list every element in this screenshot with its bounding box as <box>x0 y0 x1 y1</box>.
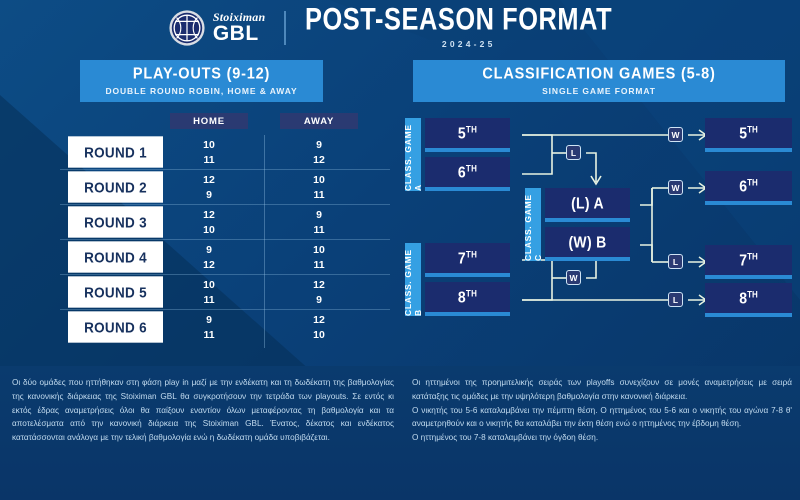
playouts-rows: ROUND 11011912ROUND 21291011ROUND 312109… <box>60 135 390 345</box>
cell-away-row-5: 129 <box>280 277 358 308</box>
game-c-top-label: (L) A <box>571 194 604 212</box>
game-c-bottom-label: (W) B <box>568 233 606 251</box>
marker-loser-game-a: L <box>566 145 581 160</box>
seed-value: 10 <box>313 173 325 187</box>
seed-value: 11 <box>203 153 214 167</box>
seed-value: 11 <box>313 258 324 272</box>
marker-winner-game-a: W <box>668 127 683 142</box>
poster-root: Stoiximan GBL POST-SEASON FORMAT 2024-25… <box>0 0 800 500</box>
classification-panel-header: CLASSIFICATION GAMES (5-8) SINGLE GAME F… <box>413 60 785 102</box>
seed-value: 12 <box>203 258 215 272</box>
season-label: 2024-25 <box>442 39 496 49</box>
class-game-c-tag: CLASS. GAME C <box>525 188 541 261</box>
round-label-6: ROUND 6 <box>68 311 163 342</box>
footer-right-p1: Οι ηττημένοι της προημιτελικής σειράς τω… <box>412 376 792 404</box>
seed-value: 9 <box>316 208 322 222</box>
game-a-bottom-label: 6TH <box>458 163 477 181</box>
playouts-panel-header: PLAY-OUTS (9-12) DOUBLE ROUND ROBIN, HOM… <box>80 60 323 102</box>
seed-value: 10 <box>313 328 325 342</box>
seed-value: 10 <box>313 243 325 257</box>
column-header-home: HOME <box>170 113 248 129</box>
round-label-2: ROUND 2 <box>68 171 163 202</box>
round-label-4: ROUND 4 <box>68 241 163 272</box>
cell-away-row-1: 912 <box>280 137 358 168</box>
result-8th-label: 8TH <box>739 289 757 307</box>
column-header-away: AWAY <box>280 113 358 129</box>
footer-right-p2: Ο νικητής του 5-6 καταλαμβάνει την πέμπτ… <box>412 404 792 432</box>
seed-value: 11 <box>313 223 324 237</box>
seed-value: 10 <box>203 223 215 237</box>
page-header: Stoiximan GBL POST-SEASON FORMAT 2024-25 <box>0 0 800 55</box>
game-a-top-label: 5TH <box>458 124 477 142</box>
table-row: ROUND 11011912 <box>60 135 390 170</box>
cell-home-row-5: 1011 <box>170 277 248 308</box>
seed-value: 12 <box>313 153 325 167</box>
seed-value: 9 <box>316 293 322 307</box>
table-row: ROUND 21291011 <box>60 170 390 205</box>
game-c-slot-top: (L) A <box>545 188 630 222</box>
seed-value: 12 <box>203 173 215 187</box>
cell-away-row-3: 911 <box>280 207 358 238</box>
seed-value: 9 <box>206 188 212 202</box>
game-a-seed-bottom: 6TH <box>425 157 510 191</box>
cell-home-row-2: 129 <box>170 172 248 203</box>
game-b-seed-bottom: 8TH <box>425 282 510 316</box>
cell-home-row-1: 1011 <box>170 137 248 168</box>
seed-value: 9 <box>316 138 322 152</box>
playouts-table: HOME AWAY ROUND 11011912ROUND 21291011RO… <box>60 113 390 353</box>
table-row: ROUND 51011129 <box>60 275 390 310</box>
round-label-3: ROUND 3 <box>68 206 163 237</box>
seed-value: 9 <box>206 313 212 327</box>
header-divider <box>284 11 286 45</box>
cell-home-row-4: 912 <box>170 242 248 273</box>
footer-right-text: Οι ηττημένοι της προημιτελικής σειράς τω… <box>412 376 792 445</box>
seed-value: 12 <box>313 278 325 292</box>
marker-winner-game-b: W <box>566 270 581 285</box>
seed-value: 11 <box>203 328 214 342</box>
footer-left-text: Οι δύο ομάδες που ηττήθηκαν στη φάση pla… <box>12 376 394 445</box>
result-5th-label: 5TH <box>739 124 757 142</box>
cell-away-row-6: 1210 <box>280 312 358 343</box>
gbl-logo: Stoiximan GBL <box>168 9 265 47</box>
playouts-subtitle: DOUBLE ROUND ROBIN, HOME & AWAY <box>105 86 297 96</box>
seed-value: 9 <box>206 243 212 257</box>
seed-value: 12 <box>313 313 325 327</box>
round-label-5: ROUND 5 <box>68 276 163 307</box>
result-box-6th: 6TH <box>705 171 792 205</box>
class-game-a-tag: CLASS. GAME A <box>405 118 421 191</box>
result-6th-label: 6TH <box>739 177 757 195</box>
seed-value: 11 <box>313 188 324 202</box>
cell-home-row-3: 1210 <box>170 207 248 238</box>
title-block: POST-SEASON FORMAT 2024-25 <box>305 6 632 49</box>
round-label-1: ROUND 1 <box>68 136 163 167</box>
game-b-seed-top: 7TH <box>425 243 510 277</box>
basketball-logo-icon <box>168 9 206 47</box>
cell-away-row-4: 1011 <box>280 242 358 273</box>
footer-right-p3: Ο ηττημένος του 7-8 καταλαμβάνει την όγδ… <box>412 431 792 445</box>
result-box-5th: 5TH <box>705 118 792 152</box>
game-c-slot-bottom: (W) B <box>545 227 630 261</box>
result-box-8th: 8TH <box>705 283 792 317</box>
classification-subtitle: SINGLE GAME FORMAT <box>542 86 656 96</box>
seed-value: 12 <box>203 208 215 222</box>
seed-value: 10 <box>203 138 215 152</box>
result-7th-label: 7TH <box>739 251 757 269</box>
result-box-7th: 7TH <box>705 245 792 279</box>
game-b-top-label: 7TH <box>458 249 477 267</box>
footer-notes: Οι δύο ομάδες που ηττήθηκαν στη φάση pla… <box>0 366 800 500</box>
classification-bracket: CLASS. GAME A 5TH 6TH CLASS. GAME C (L) … <box>400 110 800 370</box>
marker-winner-game-c: W <box>668 180 683 195</box>
seed-value: 10 <box>203 278 215 292</box>
logo-gbl-text: GBL <box>213 24 265 44</box>
table-row: ROUND 69111210 <box>60 310 390 345</box>
table-row: ROUND 31210911 <box>60 205 390 240</box>
cell-away-row-2: 1011 <box>280 172 358 203</box>
playouts-title: PLAY-OUTS (9-12) <box>133 65 270 83</box>
game-a-seed-top: 5TH <box>425 118 510 152</box>
page-title: POST-SEASON FORMAT <box>305 4 612 36</box>
seed-value: 11 <box>203 293 214 307</box>
classification-title: CLASSIFICATION GAMES (5-8) <box>482 65 715 83</box>
game-b-bottom-label: 8TH <box>458 288 477 306</box>
class-game-b-tag: CLASS. GAME B <box>405 243 421 316</box>
table-row: ROUND 49121011 <box>60 240 390 275</box>
cell-home-row-6: 911 <box>170 312 248 343</box>
marker-loser-game-c: L <box>668 254 683 269</box>
marker-loser-game-b: L <box>668 292 683 307</box>
